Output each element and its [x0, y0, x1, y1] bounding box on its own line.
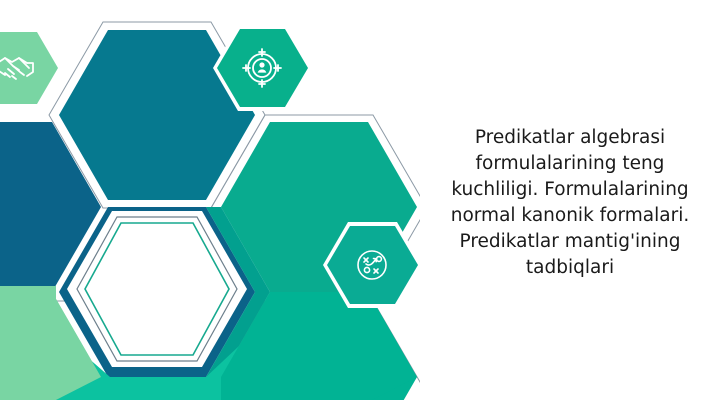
hexagon-honeycomb-graphic	[0, 0, 420, 406]
slide-canvas: Predikatlar algebrasi formulalarining te…	[0, 0, 720, 406]
bottom-white-trim	[0, 400, 420, 406]
hexagon-darkblue-left-edge	[0, 122, 52, 292]
hexagon-art-svg	[0, 0, 420, 406]
title-block: Predikatlar algebrasi formulalarining te…	[420, 0, 720, 406]
page-title: Predikatlar algebrasi formulalarining te…	[432, 125, 708, 281]
